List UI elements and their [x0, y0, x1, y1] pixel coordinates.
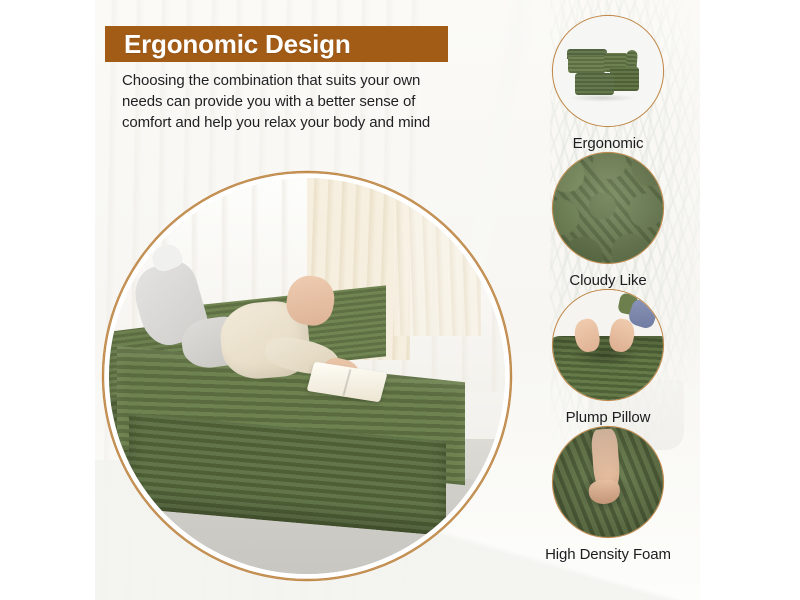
sofa-ottoman-module — [575, 73, 614, 95]
feature-list: Ergonomic Cloudy Like — [513, 16, 700, 591]
texture-shading — [553, 153, 663, 263]
person-reading — [133, 245, 379, 435]
feature-label-plump-pillow: Plump Pillow — [566, 409, 651, 426]
high-density-foam-thumbnail — [553, 427, 663, 537]
sofa-seat-a — [568, 56, 605, 74]
feature-item-plump-pillow: Plump Pillow — [513, 290, 700, 426]
content-stage: Ergonomic Design Choosing the combinatio… — [95, 0, 700, 600]
page-title: Ergonomic Design — [105, 29, 351, 60]
plump-pillow-thumbnail — [553, 290, 663, 400]
sofa-corner-module — [610, 67, 639, 91]
open-book — [306, 362, 387, 403]
cloudy-like-thumbnail — [553, 153, 663, 263]
feature-item-ergonomic: Ergonomic — [513, 16, 700, 152]
feature-item-cloudy-like: Cloudy Like — [513, 153, 700, 289]
infographic-canvas: Ergonomic Design Choosing the combinatio… — [0, 0, 800, 600]
vignette — [553, 427, 663, 537]
ergonomic-thumbnail — [553, 16, 663, 126]
feature-item-high-density-foam: High Density Foam — [513, 427, 700, 563]
hero-photo-frame — [103, 172, 511, 580]
title-banner: Ergonomic Design — [105, 26, 448, 62]
hero-curtain-sheer — [394, 178, 481, 336]
hero-photo — [109, 178, 505, 574]
description-paragraph: Choosing the combination that suits your… — [122, 70, 457, 133]
feature-label-high-density-foam: High Density Foam — [545, 546, 671, 563]
feature-label-ergonomic: Ergonomic — [573, 135, 644, 152]
feature-label-cloudy-like: Cloudy Like — [569, 272, 646, 289]
sofa-floor-shadow — [568, 94, 636, 102]
